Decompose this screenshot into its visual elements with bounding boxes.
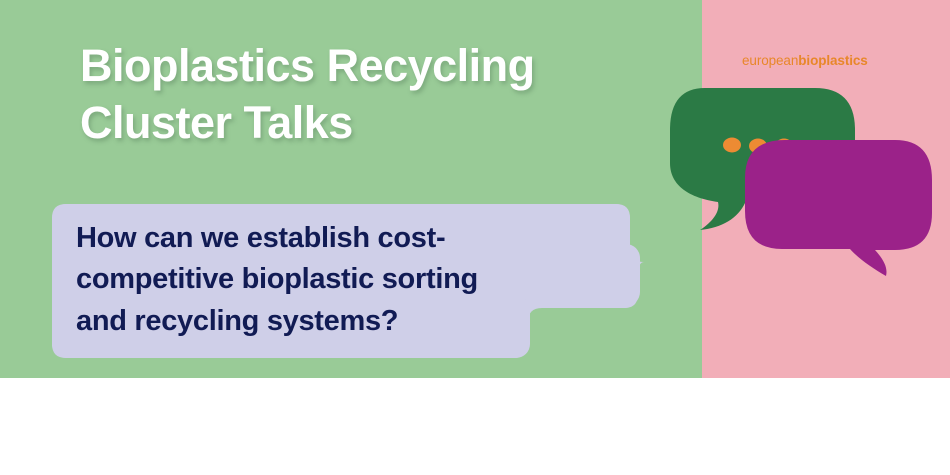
page-title: Bioplastics Recycling Cluster Talks [80,38,680,151]
question-text: How can we establish cost- competitive b… [76,218,646,342]
speech-bubbles-illustration [660,78,950,308]
european-bioplastics-logo-european: european [742,53,798,68]
question-speech-bubble: How can we establish cost- competitive b… [52,204,652,360]
european-bioplastics-logo-bioplastics: bioplastics [798,53,867,68]
bioplastics-event-banner: Bioplastics Recycling Cluster Talks How … [0,0,950,475]
partner-logos-footer: BIOS ReBioCycle [0,378,950,475]
european-bioplastics-logo: europeanbioplastics [742,53,868,68]
purple-speech-bubble [745,140,932,276]
green-bubble-dot-1 [723,138,741,153]
